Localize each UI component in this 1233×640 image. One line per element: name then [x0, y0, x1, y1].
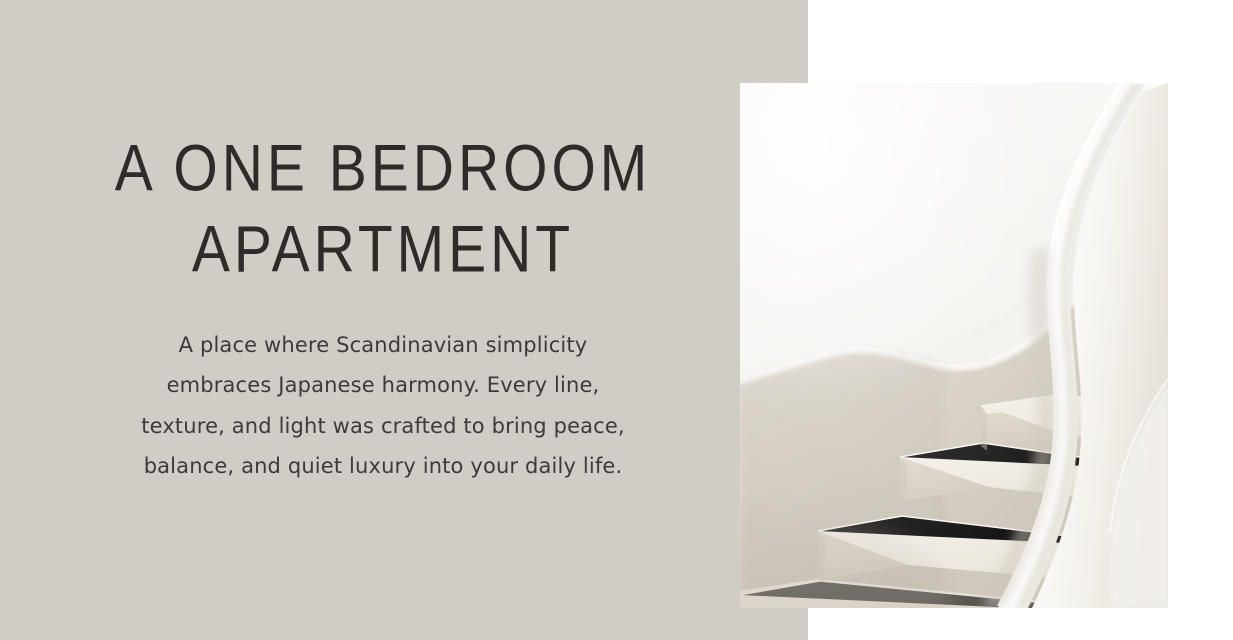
description-paragraph: A place where Scandinavian simplicity em…: [126, 325, 641, 486]
text-content-column: A ONE BEDROOM APARTMENT A place where Sc…: [28, 0, 738, 640]
staircase-illustration: [740, 83, 1168, 608]
spiral-staircase-photo: [740, 83, 1168, 608]
page-title: A ONE BEDROOM APARTMENT: [115, 129, 652, 290]
slide-root: A ONE BEDROOM APARTMENT A place where Sc…: [0, 0, 1233, 640]
